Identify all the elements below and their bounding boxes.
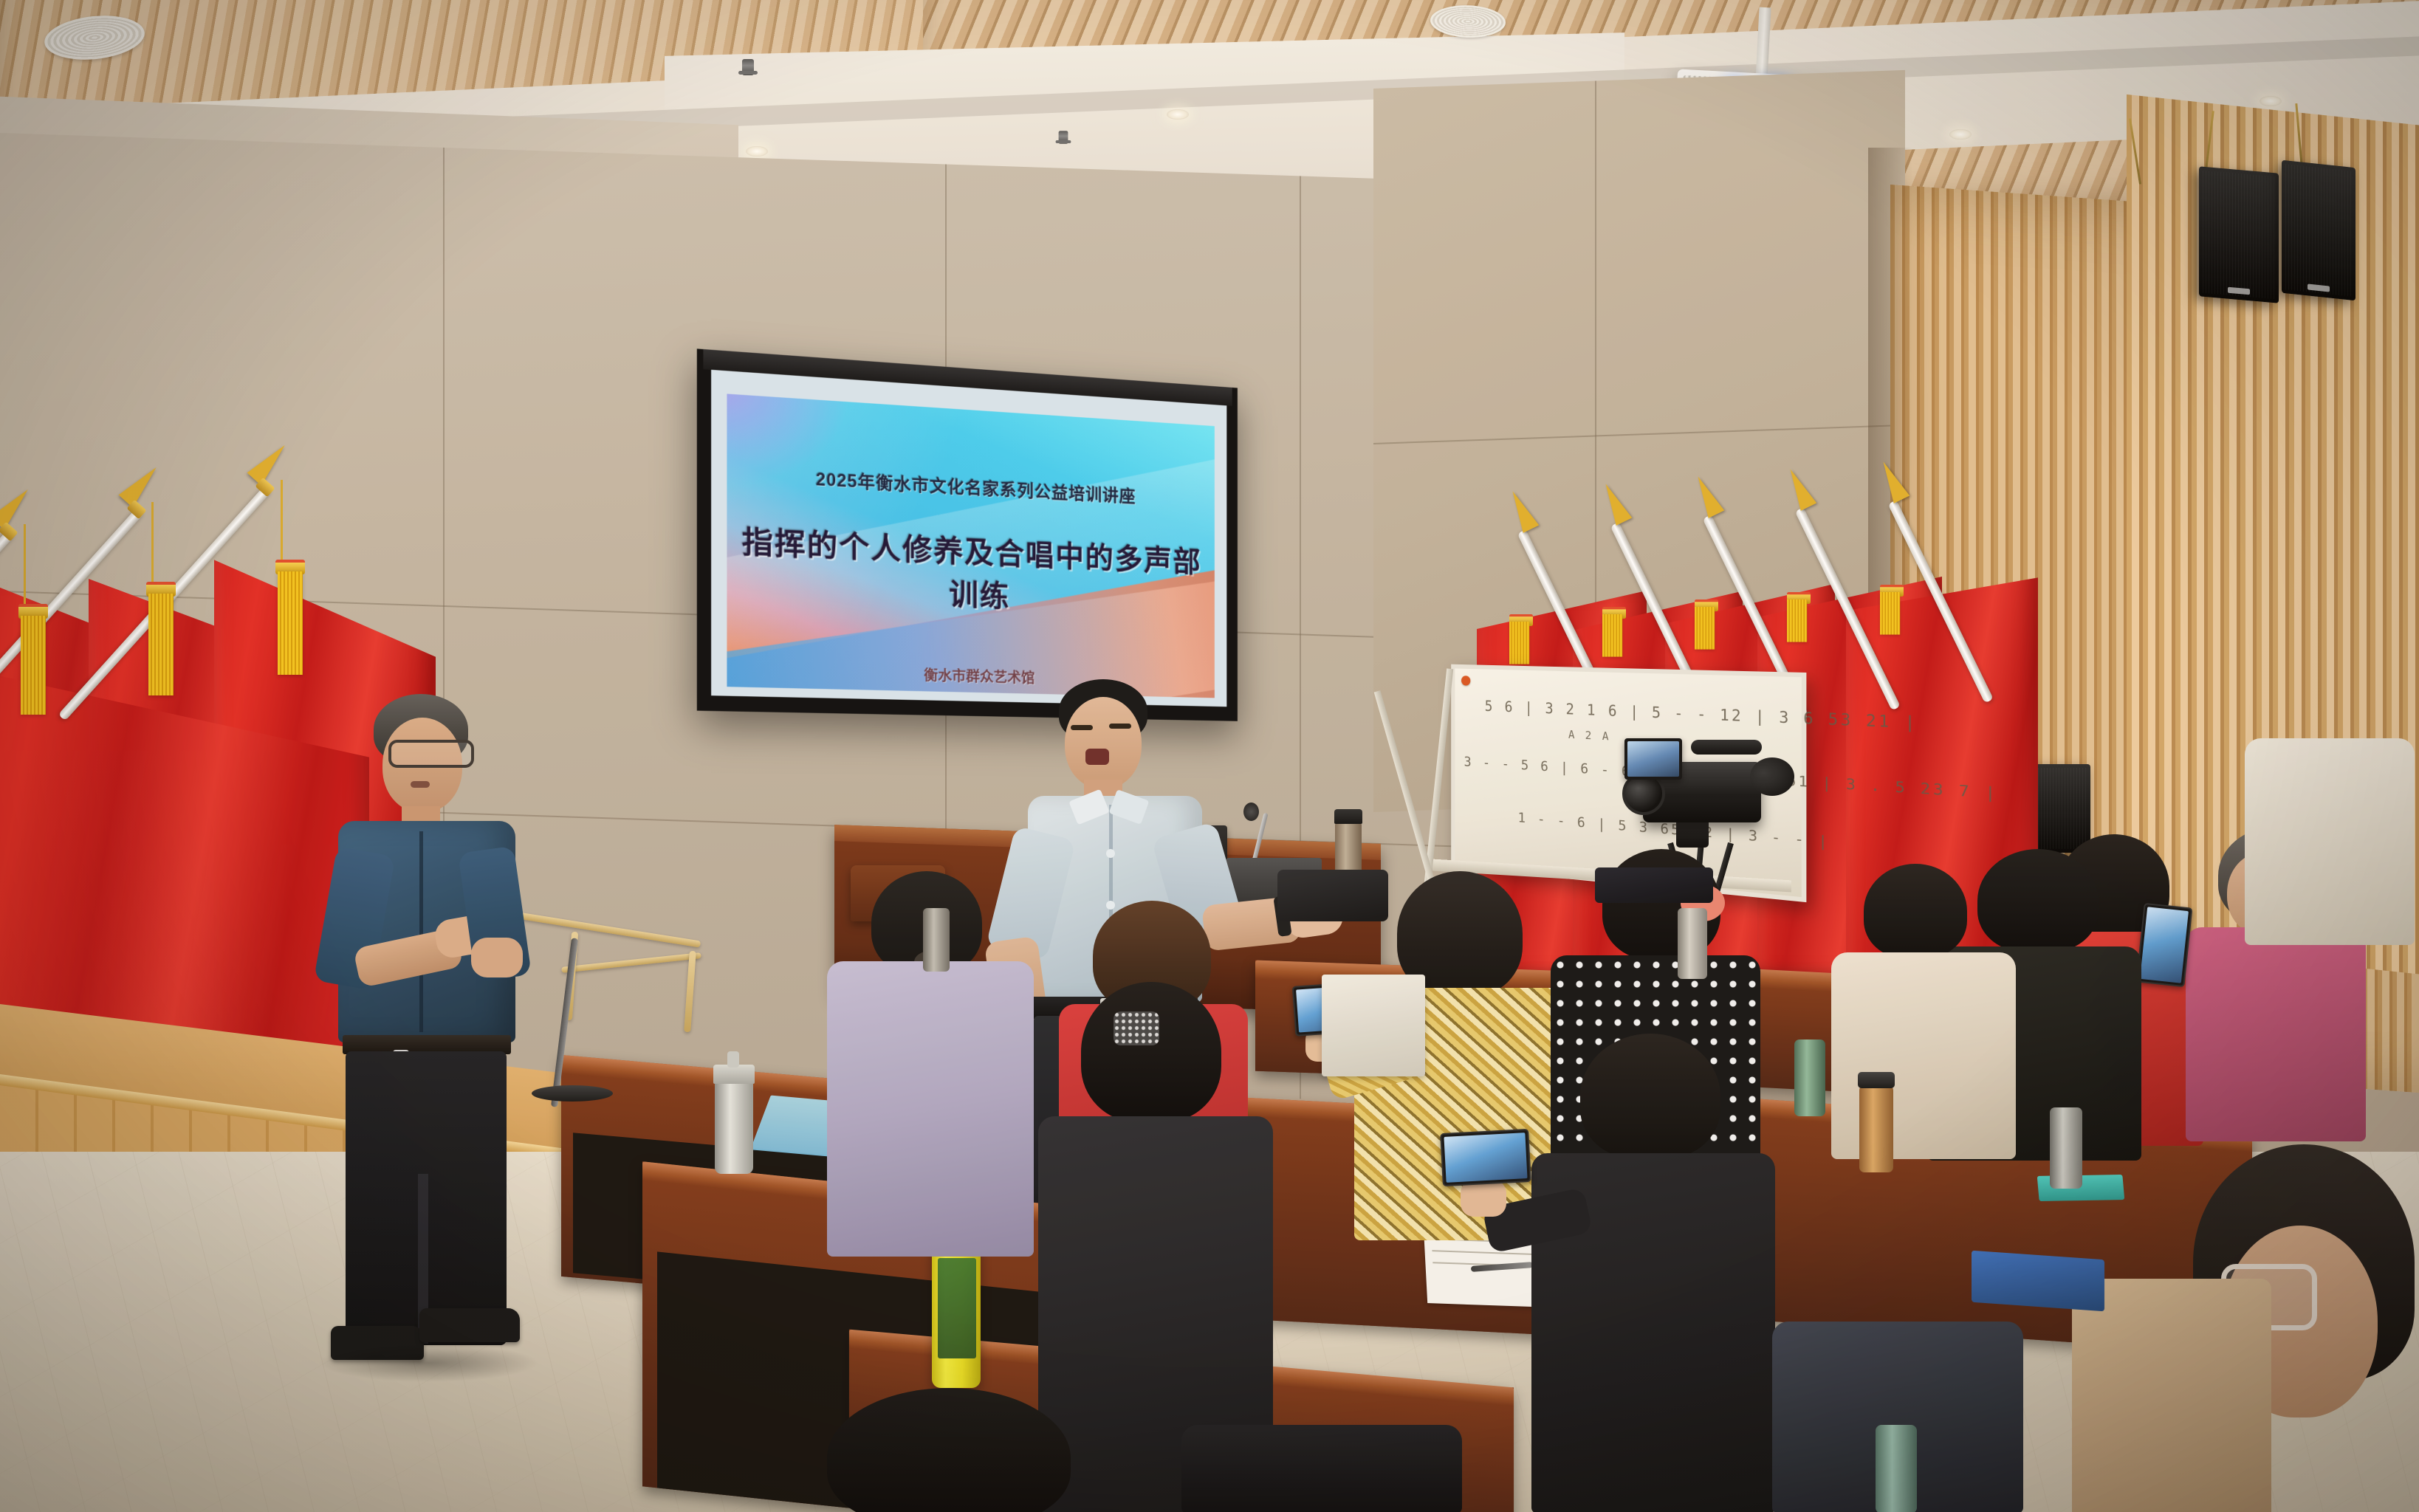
audience-member-foreground [1181, 1425, 1462, 1512]
thermos-cap [1858, 1072, 1895, 1088]
sprinkler-icon [742, 59, 754, 75]
glasses-icon [388, 740, 474, 768]
smartphone[interactable] [1440, 1129, 1531, 1186]
tote-bag [1322, 975, 1425, 1076]
magnet-icon [1461, 676, 1470, 686]
microphone-stand-base [532, 1085, 613, 1102]
wall-speaker-left [2199, 166, 2279, 303]
thermos-cap [1334, 809, 1362, 824]
thermos [2050, 1107, 2082, 1189]
steel-thermos [715, 1079, 753, 1174]
audience-hand [1461, 1180, 1506, 1217]
audience-member-standing [2245, 709, 2415, 945]
audience-member-foreground [827, 1388, 1071, 1512]
thermos [1794, 1039, 1825, 1116]
tripod-head [1676, 818, 1709, 848]
thermos [1859, 1085, 1893, 1172]
camera-hood [1750, 757, 1794, 796]
presentation-slide: 2025年衡水市文化名家系列公益培训讲座 指挥的个人修养及合唱中的多声部训练 衡… [727, 394, 1214, 698]
ceiling-downlight [746, 146, 768, 157]
whiteboard-annotation: A 2 A [1568, 728, 1610, 743]
bottle-label [938, 1258, 976, 1358]
projection-screen: 2025年衡水市文化名家系列公益培训讲座 指挥的个人修养及合唱中的多声部训练 衡… [697, 348, 1238, 721]
screen-surface: 2025年衡水市文化名家系列公益培训讲座 指挥的个人修养及合唱中的多声部训练 衡… [711, 370, 1226, 707]
ceiling-downlight [1167, 109, 1189, 120]
ceiling-downlight [1949, 129, 1972, 140]
thermos [923, 908, 950, 972]
wall-speaker-right [2282, 160, 2355, 301]
bag [1277, 870, 1388, 921]
slide-title: 指挥的个人修养及合唱中的多声部训练 [727, 517, 1214, 623]
assistant-host [325, 694, 569, 1373]
blue-cloth [1972, 1251, 2104, 1312]
audience-pink-top [2186, 927, 2366, 1141]
auditorium-scene: 2025年衡水市文化名家系列公益培训讲座 指挥的个人修养及合唱中的多声部训练 衡… [0, 0, 2419, 1512]
ceiling-downlight [2260, 96, 2282, 106]
presenter-mouth [1085, 749, 1109, 765]
hair-clip [1114, 1011, 1159, 1045]
jacket-on-desk [1595, 867, 1713, 903]
sprinkler-icon [1059, 131, 1068, 144]
audience-white-top [2245, 738, 2415, 945]
audience-sweater [827, 961, 1034, 1257]
thermos-spout [727, 1051, 739, 1068]
camera-lcd-screen [1624, 738, 1682, 780]
shoe-right [419, 1308, 520, 1342]
audience-member [2097, 1166, 2419, 1512]
audience-tan-coat [2072, 1279, 2271, 1512]
thermos [1876, 1425, 1917, 1512]
assistant-hand-right [471, 938, 523, 977]
thermos [1678, 908, 1707, 979]
slide-kicker: 2025年衡水市文化名家系列公益培训讲座 [727, 460, 1214, 512]
camera-shotgun-mic [1691, 740, 1762, 755]
audience-member-filming [1528, 1034, 1780, 1512]
